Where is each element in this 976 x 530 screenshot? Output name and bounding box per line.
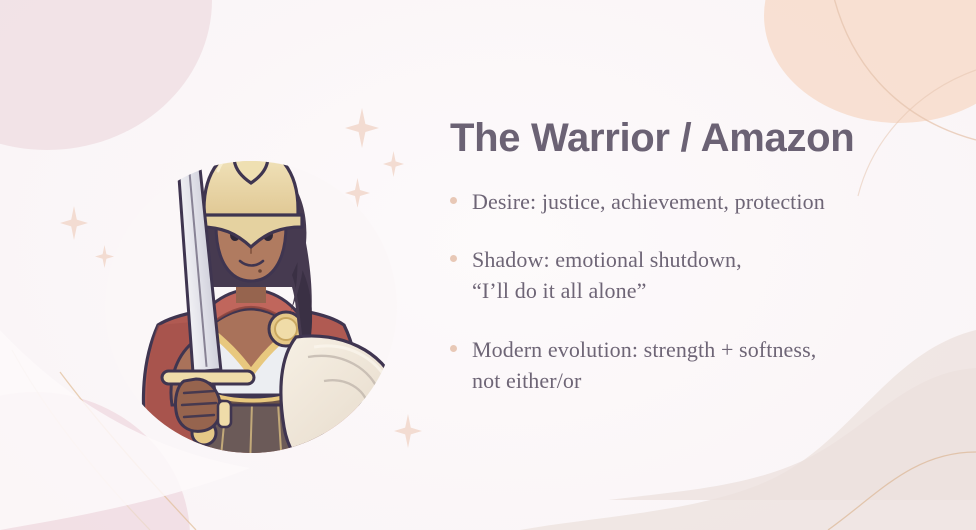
bullet-dot-icon (450, 255, 457, 262)
bullet-list: Desire: justice, achievement, protection… (430, 186, 916, 396)
warrior-illustration (100, 75, 402, 455)
list-item: Modern evolution: strength + softness, n… (430, 334, 916, 396)
bullet-dot-icon (450, 345, 457, 352)
page-title: The Warrior / Amazon (450, 116, 916, 160)
illustration-column (0, 0, 430, 530)
list-item: Shadow: emotional shutdown, “I’ll do it … (430, 244, 916, 306)
slide-content: The Warrior / Amazon Desire: justice, ac… (0, 0, 976, 530)
list-item: Desire: justice, achievement, protection (430, 186, 916, 217)
bullet-dot-icon (450, 197, 457, 204)
bullet-text: Modern evolution: strength + softness, n… (472, 334, 816, 396)
slide-canvas: The Warrior / Amazon Desire: justice, ac… (0, 0, 976, 530)
bullet-text: Desire: justice, achievement, protection (472, 186, 825, 217)
text-column: The Warrior / Amazon Desire: justice, ac… (430, 116, 976, 414)
warrior-portrait-icon (100, 75, 402, 455)
bullet-text: Shadow: emotional shutdown, “I’ll do it … (472, 244, 742, 306)
